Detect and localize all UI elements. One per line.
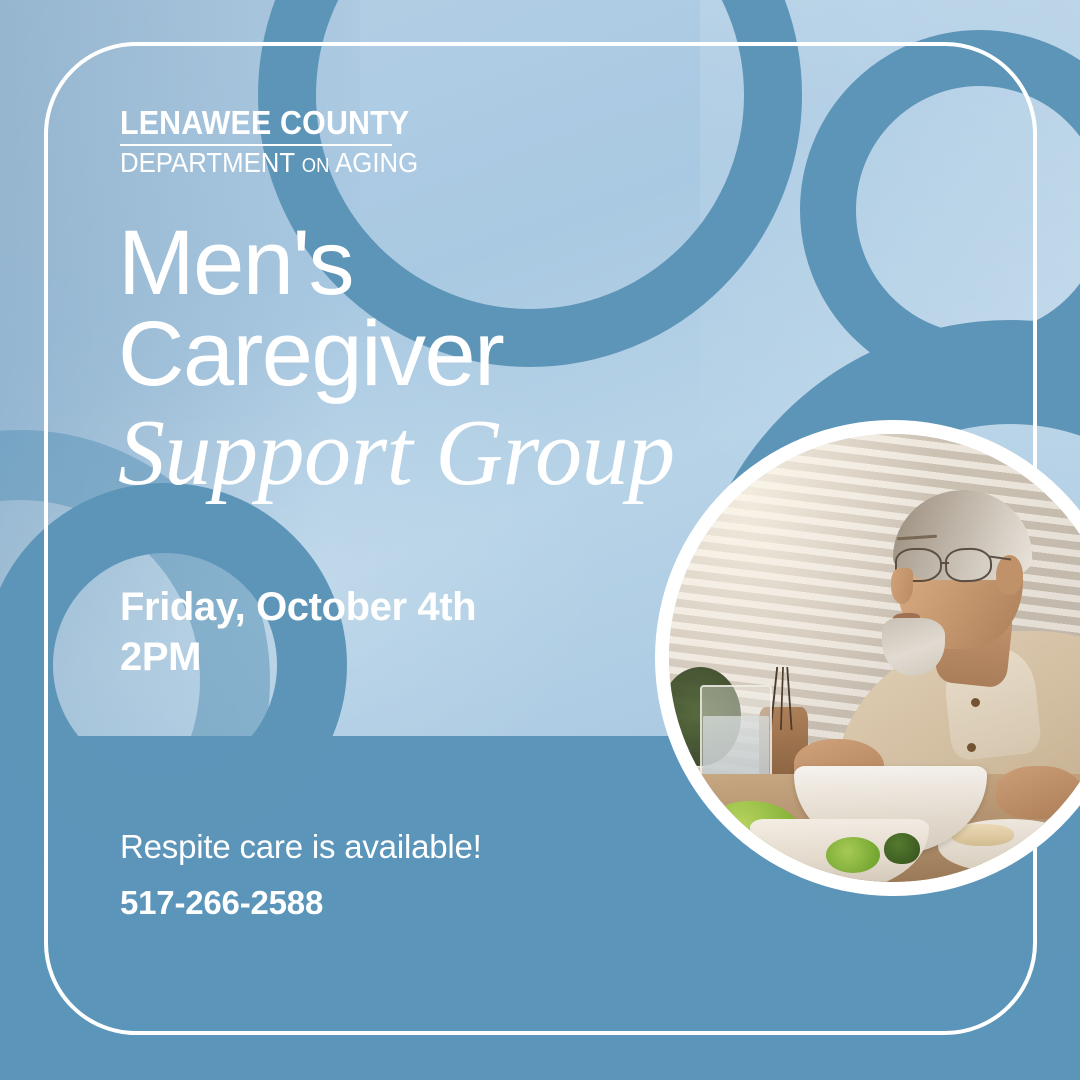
logo-department-word: DEPARTMENT: [120, 147, 302, 178]
title-line-1: Men's: [118, 218, 675, 309]
title-line-3-script: Support Group: [118, 404, 675, 503]
flyer-content: LENAWEE COUNTY DEPARTMENT ON AGING Men's…: [0, 0, 1080, 1080]
respite-care-note: Respite care is available!: [120, 826, 482, 869]
contact-phone-number[interactable]: 517-266-2588: [120, 884, 482, 922]
logo-department-name: DEPARTMENT ON AGING: [120, 149, 396, 177]
title-line-2: Caregiver: [118, 309, 675, 400]
logo-on-word: ON: [302, 155, 330, 177]
organization-logo: LENAWEE COUNTY DEPARTMENT ON AGING: [120, 106, 420, 177]
logo-divider-rule: [120, 144, 392, 146]
logo-county-name: LENAWEE COUNTY: [120, 106, 396, 144]
event-time: 2PM: [120, 632, 476, 682]
footer-contact: Respite care is available! 517-266-2588: [120, 826, 482, 922]
flyer-canvas: LENAWEE COUNTY DEPARTMENT ON AGING Men's…: [0, 0, 1080, 1080]
event-date: Friday, October 4th: [120, 582, 476, 632]
page-title: Men's Caregiver Support Group: [118, 218, 675, 503]
event-datetime: Friday, October 4th 2PM: [120, 582, 476, 683]
logo-aging-word: AGING: [329, 147, 418, 178]
